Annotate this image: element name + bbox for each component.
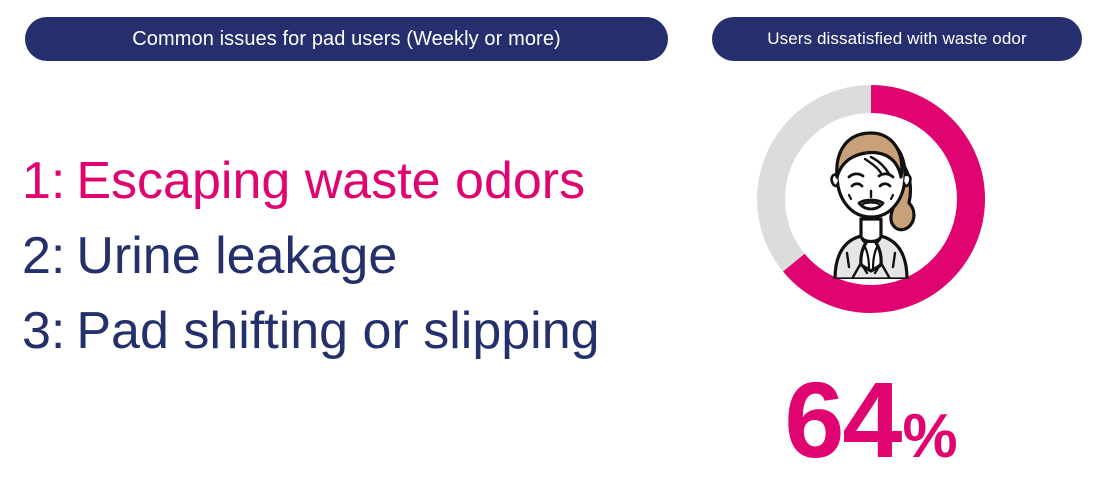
percent-value: 64 [784,366,900,474]
worried-woman-icon [791,119,951,279]
issue-rank: 1: [22,144,65,219]
percent-readout: 64 % [757,366,985,486]
issue-label: Pad shifting or slipping [76,294,599,369]
issue-label: Escaping waste odors [76,144,585,219]
issue-rank: 2: [22,219,65,294]
issue-rank: 3: [22,294,65,369]
donut-chart [757,85,985,313]
pill-waste-odor: Users dissatisfied with waste odor [712,17,1082,61]
list-item: 2: Urine leakage [22,219,682,294]
list-item: 3: Pad shifting or slipping [22,294,682,369]
issue-label: Urine leakage [76,219,397,294]
percent-symbol: % [903,406,958,468]
list-item: 1: Escaping waste odors [22,144,682,219]
issue-list: 1: Escaping waste odors 2: Urine leakage… [22,144,682,369]
pill-common-issues: Common issues for pad users (Weekly or m… [25,17,668,61]
pill-common-issues-label: Common issues for pad users (Weekly or m… [132,28,561,51]
pill-waste-odor-label: Users dissatisfied with waste odor [767,29,1026,49]
